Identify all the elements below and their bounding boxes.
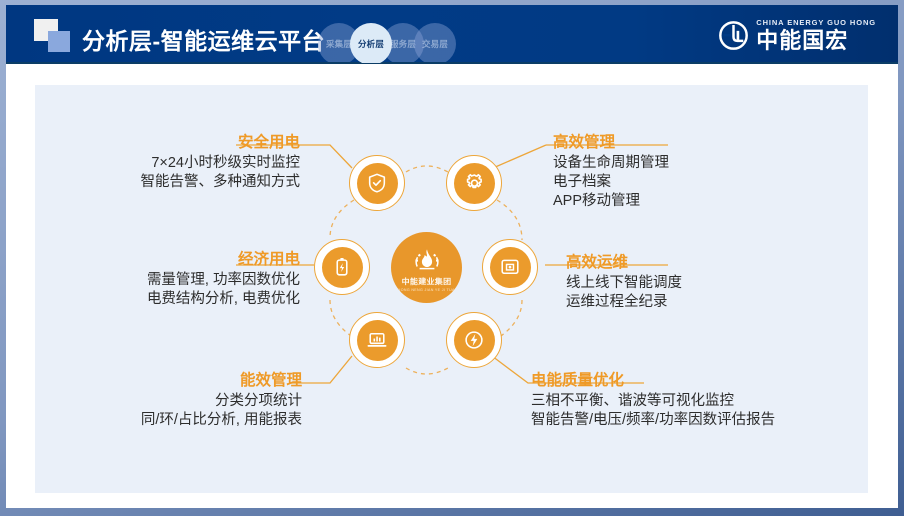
feature-line: APP移动管理 xyxy=(553,192,833,211)
flame-gear-emblem-icon xyxy=(412,247,442,274)
feature-title-quality: 电能质量优化 xyxy=(531,368,871,390)
gear-icon xyxy=(454,163,495,204)
node-power-quality-optimization[interactable] xyxy=(446,312,502,368)
bolt-circle-icon xyxy=(454,320,495,361)
feature-line: 线上线下智能调度 xyxy=(566,274,836,293)
feature-title-manage: 高效管理 xyxy=(553,130,833,152)
header-underline xyxy=(6,62,898,64)
feature-block-manage: 高效管理 设备生命周期管理 电子档案 APP移动管理 xyxy=(553,130,833,211)
feature-line: 智能告警/电压/频率/功率因数评估报告 xyxy=(531,411,871,430)
feature-line: 电子档案 xyxy=(553,173,833,192)
page-title: 分析层-智能运维云平台 xyxy=(82,22,325,56)
monitor-gear-icon xyxy=(490,247,531,288)
company-logo-text: CHINA ENERGY GUO HONG 中能国宏 xyxy=(756,19,876,52)
company-logo: CHINA ENERGY GUO HONG 中能国宏 xyxy=(718,19,876,52)
feature-block-energy: 能效管理 分类分项统计 同/环/占比分析, 用能报表 xyxy=(40,368,302,430)
feature-line: 需量管理, 功率因数优化 xyxy=(30,271,300,290)
layer-badge-trade[interactable]: 交易层 xyxy=(414,23,456,63)
company-logo-chinese: 中能国宏 xyxy=(756,30,876,52)
feature-block-economy: 经济用电 需量管理, 功率因数优化 电费结构分析, 电费优化 xyxy=(30,247,300,309)
feature-block-safe: 安全用电 7×24小时秒级实时监控 智能告警、多种通知方式 xyxy=(50,130,300,192)
node-efficient-management[interactable] xyxy=(446,155,502,211)
logo-square-blue xyxy=(48,31,70,52)
hub-company-name: 中能建业集团 xyxy=(402,276,452,286)
company-logo-english: CHINA ENERGY GUO HONG xyxy=(756,19,876,27)
feature-line: 运维过程全纪录 xyxy=(566,293,836,312)
shield-check-icon xyxy=(357,163,398,204)
feature-line: 7×24小时秒级实时监控 xyxy=(50,154,300,173)
node-safe-electricity[interactable] xyxy=(349,155,405,211)
battery-bolt-icon xyxy=(322,247,363,288)
feature-block-ops: 高效运维 线上线下智能调度 运维过程全纪录 xyxy=(566,250,836,312)
laptop-chart-icon xyxy=(357,320,398,361)
feature-title-economy: 经济用电 xyxy=(30,247,300,269)
layer-badge-group: 采集层 服务层 交易层 分析层 xyxy=(318,23,478,63)
two-squares-logo-icon xyxy=(34,19,74,53)
layer-badge-analysis[interactable]: 分析层 xyxy=(350,23,392,63)
feature-line: 智能告警、多种通知方式 xyxy=(50,173,300,192)
feature-title-ops: 高效运维 xyxy=(566,250,836,272)
feature-title-energy: 能效管理 xyxy=(40,368,302,390)
feature-line: 三相不平衡、谐波等可视化监控 xyxy=(531,392,871,411)
feature-line: 同/环/占比分析, 用能报表 xyxy=(40,411,302,430)
feature-block-quality: 电能质量优化 三相不平衡、谐波等可视化监控 智能告警/电压/频率/功率因数评估报… xyxy=(531,368,871,430)
hub-company-pinyin: ZHONG NENG JIAN YE JI TUAN xyxy=(395,288,457,292)
center-hub-logo: 中能建业集团 ZHONG NENG JIAN YE JI TUAN xyxy=(391,232,462,303)
feature-line: 电费结构分析, 电费优化 xyxy=(30,290,300,309)
feature-line: 分类分项统计 xyxy=(40,392,302,411)
node-economic-electricity[interactable] xyxy=(314,239,370,295)
header-bar: 分析层-智能运维云平台 采集层 服务层 交易层 分析层 CHINA ENERGY… xyxy=(6,5,898,63)
feature-line: 设备生命周期管理 xyxy=(553,154,833,173)
company-logo-icon xyxy=(718,20,749,51)
feature-title-safe: 安全用电 xyxy=(50,130,300,152)
slide-root: 分析层-智能运维云平台 采集层 服务层 交易层 分析层 CHINA ENERGY… xyxy=(0,0,904,516)
node-energy-efficiency-management[interactable] xyxy=(349,312,405,368)
node-efficient-operations[interactable] xyxy=(482,239,538,295)
